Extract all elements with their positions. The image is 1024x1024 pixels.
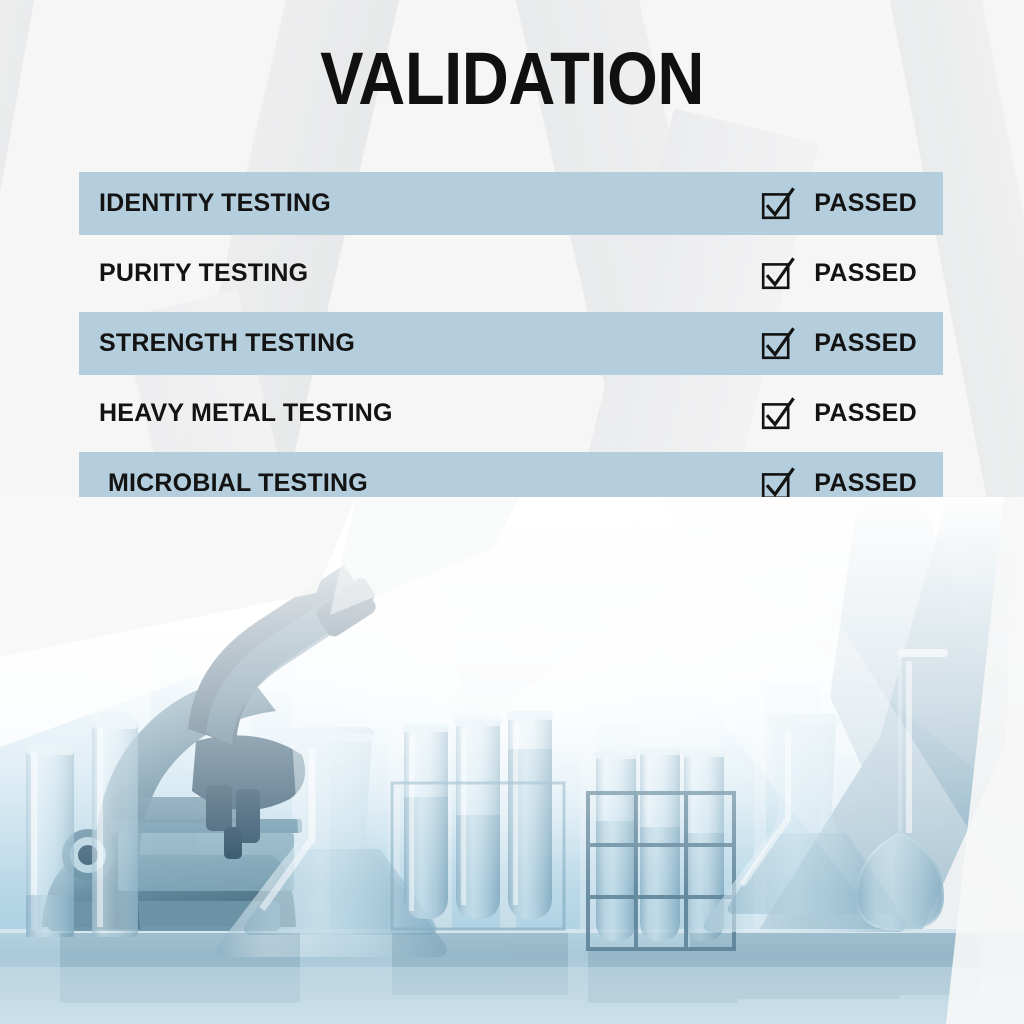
checked-checkbox-icon[interactable]	[761, 398, 795, 430]
checked-checkbox-icon[interactable]	[761, 258, 795, 290]
status-badge: PASSED	[814, 189, 917, 218]
checked-checkbox-icon[interactable]	[761, 328, 795, 360]
checklist-row[interactable]: STRENGTH TESTINGPASSED	[79, 312, 943, 375]
checklist-row-status: PASSED	[761, 242, 943, 305]
checked-checkbox-icon[interactable]	[761, 468, 795, 500]
validation-checklist: IDENTITY TESTINGPASSEDPURITY TESTINGPASS…	[79, 172, 943, 522]
checklist-row-label: MICROBIAL TESTING	[99, 469, 368, 498]
poster-canvas: VALIDATION IDENTITY TESTINGPASSEDPURITY …	[0, 0, 1024, 1024]
checklist-row[interactable]: IDENTITY TESTINGPASSED	[79, 172, 943, 235]
lab-photo	[0, 497, 1024, 1024]
checklist-row-status: PASSED	[761, 172, 943, 235]
status-badge: PASSED	[814, 399, 917, 428]
status-badge: PASSED	[814, 469, 917, 498]
checklist-row-status: PASSED	[761, 382, 943, 445]
page-title: VALIDATION	[61, 42, 962, 116]
checklist-row-label: IDENTITY TESTING	[99, 189, 331, 218]
status-badge: PASSED	[814, 329, 917, 358]
checklist-row[interactable]: PURITY TESTINGPASSED	[79, 242, 943, 305]
checklist-row[interactable]: HEAVY METAL TESTINGPASSED	[79, 382, 943, 445]
checklist-row-label: STRENGTH TESTING	[99, 329, 355, 358]
checklist-row-label: HEAVY METAL TESTING	[99, 399, 393, 428]
checklist-row-label: PURITY TESTING	[99, 259, 308, 288]
checked-checkbox-icon[interactable]	[761, 188, 795, 220]
status-badge: PASSED	[814, 259, 917, 288]
checklist-row-status: PASSED	[761, 312, 943, 375]
